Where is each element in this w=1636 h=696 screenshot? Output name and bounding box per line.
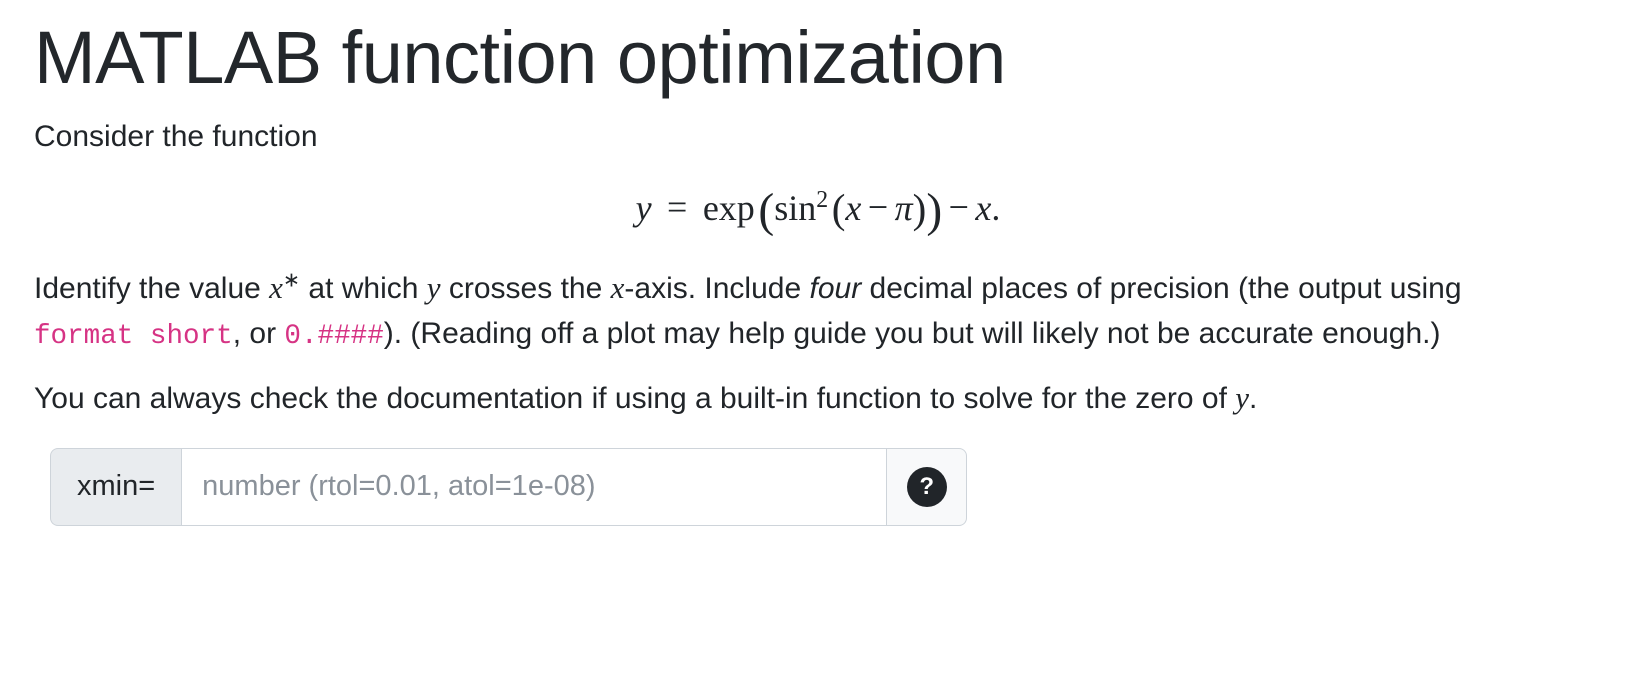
- input-prefix-xmin: xmin=: [50, 448, 181, 526]
- math-x-1: x: [611, 270, 625, 305]
- math-x-star-sup: ∗: [283, 269, 300, 291]
- task-seg-7: ). (Reading off a plot may help guide yo…: [384, 317, 1441, 350]
- eq-close-inner: ): [913, 185, 927, 231]
- eq-sin: sin: [774, 187, 816, 227]
- eq-equals: =: [661, 187, 694, 227]
- answer-input-group: xmin= ?: [50, 448, 967, 526]
- eq-pi: π: [895, 187, 913, 227]
- emphasis-four: four: [809, 272, 861, 305]
- xmin-input[interactable]: [181, 448, 887, 526]
- hint-seg-2: .: [1249, 382, 1257, 415]
- code-decimal-mask: 0.####: [284, 321, 383, 352]
- task-seg-1: Identify the value: [34, 272, 269, 305]
- display-equation: y = exp(sin2(x−π))−x.: [34, 184, 1602, 238]
- math-x-star: x∗: [269, 270, 300, 305]
- task-seg-5: decimal places of precision (the output …: [861, 272, 1461, 305]
- hint-paragraph: You can always check the documentation i…: [34, 374, 1494, 422]
- eq-x-2: x: [975, 187, 991, 227]
- eq-exponent: 2: [816, 186, 828, 212]
- code-format-short: format short: [34, 321, 233, 352]
- task-paragraph: Identify the value x∗ at which y crosses…: [34, 264, 1494, 359]
- math-y-1: y: [427, 270, 441, 305]
- eq-minus: −: [861, 187, 894, 227]
- eq-open-outer: (: [758, 185, 774, 237]
- task-seg-4: -axis. Include: [624, 272, 809, 305]
- page-title: MATLAB function optimization: [34, 18, 1602, 98]
- answer-row: xmin= ?: [34, 448, 1602, 526]
- eq-close-outer: ): [926, 185, 942, 237]
- task-seg-6: , or: [233, 317, 285, 350]
- problem-page: MATLAB function optimization Consider th…: [0, 0, 1636, 526]
- question-mark-icon: ?: [907, 467, 947, 507]
- task-seg-3: crosses the: [441, 272, 611, 305]
- help-button[interactable]: ?: [887, 448, 967, 526]
- intro-paragraph: Consider the function: [34, 114, 1494, 160]
- math-x-star-base: x: [269, 270, 283, 305]
- eq-y: y: [636, 187, 652, 227]
- hint-seg-1: You can always check the documentation i…: [34, 382, 1235, 415]
- task-seg-2: at which: [300, 272, 427, 305]
- eq-minus-2: −: [942, 187, 975, 227]
- eq-period: .: [991, 187, 1000, 227]
- eq-exp: exp: [703, 187, 755, 227]
- eq-x: x: [845, 187, 861, 227]
- eq-open-inner: (: [832, 185, 846, 231]
- math-y-2: y: [1235, 380, 1249, 415]
